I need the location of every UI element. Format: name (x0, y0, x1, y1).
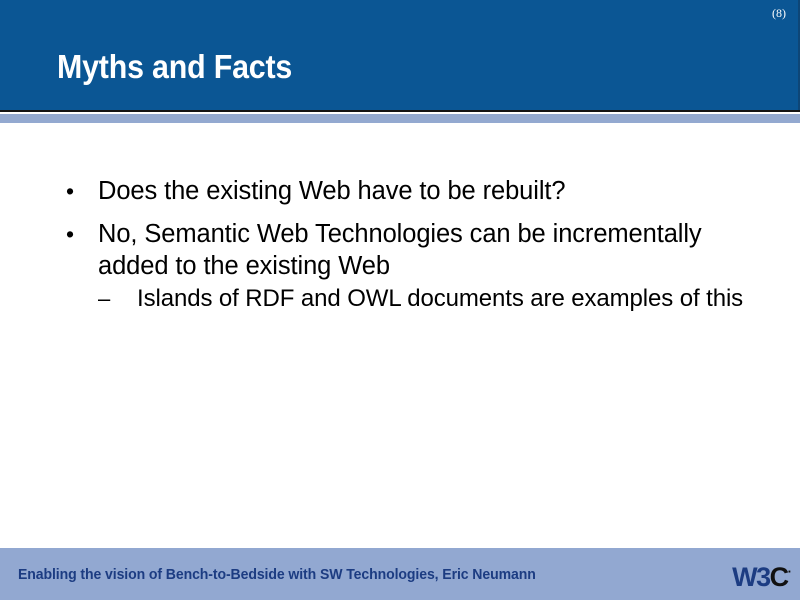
dash-marker-icon: – (98, 283, 120, 314)
slide-header-band: (8) Myths and Facts (0, 0, 800, 112)
bullet-text: Does the existing Web have to be rebuilt… (98, 177, 565, 205)
w3c-logo: W3C· (732, 555, 792, 589)
bullet-marker-icon: • (66, 218, 86, 250)
header-accent-band (0, 114, 800, 123)
bullet-text: No, Semantic Web Technologies can be inc… (98, 220, 702, 280)
sub-bullet-list: – Islands of RDF and OWL documents are e… (98, 283, 752, 314)
bullet-item: • Does the existing Web have to be rebui… (62, 175, 752, 207)
sub-bullet-item: – Islands of RDF and OWL documents are e… (98, 283, 752, 314)
slide-title: Myths and Facts (57, 48, 292, 86)
bullet-marker-icon: • (66, 175, 86, 207)
w3c-logo-c: C (770, 562, 788, 592)
slide-footer-band: Enabling the vision of Bench-to-Bedside … (0, 548, 800, 600)
slide-number: (8) (772, 6, 786, 20)
w3c-logo-w3: W3 (732, 562, 770, 592)
bullet-item: • No, Semantic Web Technologies can be i… (62, 218, 752, 314)
footer-caption: Enabling the vision of Bench-to-Bedside … (18, 566, 536, 584)
slide-body: • Does the existing Web have to be rebui… (0, 123, 800, 548)
sub-bullet-text: Islands of RDF and OWL documents are exa… (137, 285, 743, 312)
bullet-list: • Does the existing Web have to be rebui… (62, 175, 752, 325)
w3c-logo-dot-icon: · (788, 564, 792, 579)
slide-canvas: (8) Myths and Facts • Does the existing … (0, 0, 800, 600)
